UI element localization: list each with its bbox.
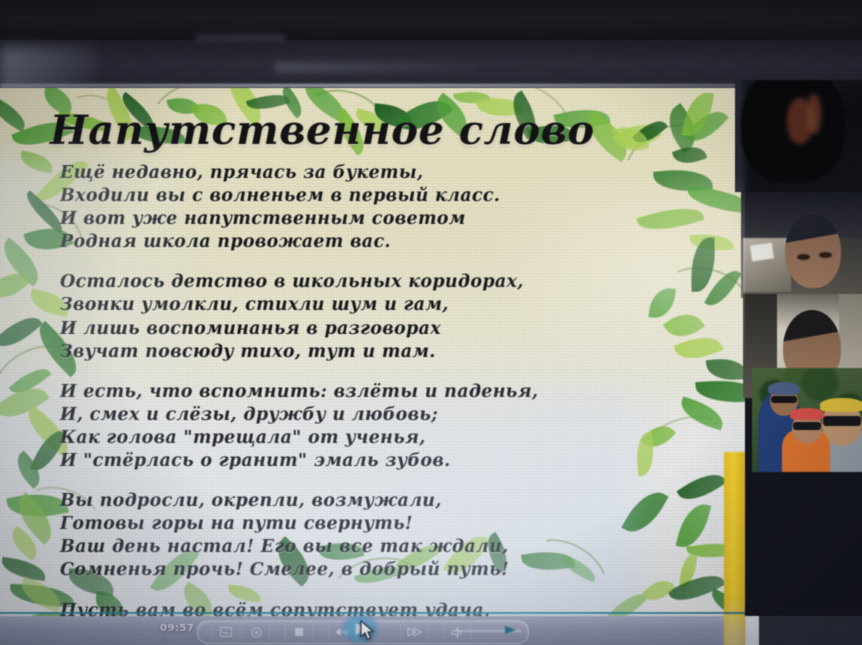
slide-canvas: Напутственное слово Ещё недавно, прячась… xyxy=(0,88,745,616)
poem-line: Входили вы с волненьем в первый класс. xyxy=(60,185,678,208)
poem-line: И, смех и слёзы, дружбу и любовь; xyxy=(60,404,678,427)
poem-block: Напутственное слово Ещё недавно, прячась… xyxy=(38,110,678,616)
participant-tile-4[interactable] xyxy=(752,368,862,472)
poem-line: Звучат повсюду тихо, тут и там. xyxy=(60,341,678,364)
bezel-reflection xyxy=(0,46,96,94)
tile4-person-1-cap xyxy=(768,382,800,395)
tile4-person-2-sunglasses xyxy=(793,422,821,430)
slide-title: Напутственное слово xyxy=(50,110,678,152)
leaf-shape xyxy=(705,356,745,384)
monitor-photo: Напутственное слово Ещё недавно, прячась… xyxy=(0,0,862,645)
tile4-person-3-sunglasses xyxy=(823,416,861,426)
poem-stanzas: Ещё недавно, прячась за букеты,Входили в… xyxy=(38,162,678,616)
participant-tile-1[interactable] xyxy=(735,80,862,192)
yellow-strip-glare xyxy=(724,596,745,645)
tile4-person-2-cap xyxy=(790,408,824,420)
leaf-shape xyxy=(695,378,745,405)
leaf-shape xyxy=(0,97,31,131)
poem-stanza: И есть, что вспомнить: взлёты и паденья,… xyxy=(60,381,678,473)
tile4-person-1-sunglasses xyxy=(771,396,797,403)
tile2-paper xyxy=(750,243,774,262)
poem-line: Вы подросли, окрепли, возмужали, xyxy=(60,490,678,513)
poem-line: Сомненья прочь! Смелее, в добрый путь! xyxy=(60,559,678,582)
tile2-person-head xyxy=(785,214,841,288)
mouse-cursor xyxy=(360,620,376,645)
poem-stanza: Вы подросли, окрепли, возмужали,Готовы г… xyxy=(60,490,678,582)
tile4-person-3-cap xyxy=(820,398,862,412)
fast-forward-icon[interactable] xyxy=(400,624,428,640)
tile1-highlight-b xyxy=(807,94,821,134)
poem-line: Ваш день настал! Его вы все так ждали, xyxy=(60,536,678,559)
blurred-window-title xyxy=(275,62,475,73)
poem-line: И вот уже напутственным советом xyxy=(60,208,678,231)
settings-icon[interactable] xyxy=(242,624,270,640)
subtitles-icon[interactable] xyxy=(212,624,240,640)
poem-line: И лишь воспоминанья в разговорах xyxy=(60,318,678,341)
poem-stanza: Осталось детство в школьных коридорах,Зв… xyxy=(60,271,678,363)
screen-glare-line xyxy=(0,84,862,87)
participant-tiles xyxy=(745,88,862,616)
tile2-eye-left xyxy=(797,254,810,260)
volume-slider-knob[interactable] xyxy=(505,626,516,634)
poem-line: И есть, что вспомнить: взлёты и паденья, xyxy=(60,381,678,404)
poem-line: Как голова "трещала" от ученья, xyxy=(60,427,678,450)
poem-stanza: Ещё недавно, прячась за букеты,Входили в… xyxy=(60,162,678,254)
poem-line: И "стёрлась о гранит" эмаль зубов. xyxy=(60,450,678,473)
tile2-eye-right xyxy=(819,252,832,258)
poem-line: Готовы горы на пути свернуть! xyxy=(60,513,678,536)
poem-line: Ещё недавно, прячась за букеты, xyxy=(60,162,678,185)
playback-time: 09:57 xyxy=(160,623,194,634)
poem-line: Осталось детство в школьных коридорах, xyxy=(60,271,678,294)
poem-line: Звонки умолкли, стихли шум и гам, xyxy=(60,294,678,317)
poem-line: Родная школа провожает вас. xyxy=(60,231,678,254)
stop-icon[interactable] xyxy=(285,624,313,640)
volume-icon[interactable] xyxy=(443,624,471,640)
presentation-slide[interactable]: Напутственное слово Ещё недавно, прячась… xyxy=(0,88,745,616)
bezel-notch xyxy=(195,34,285,42)
participant-tile-2[interactable] xyxy=(741,192,862,298)
